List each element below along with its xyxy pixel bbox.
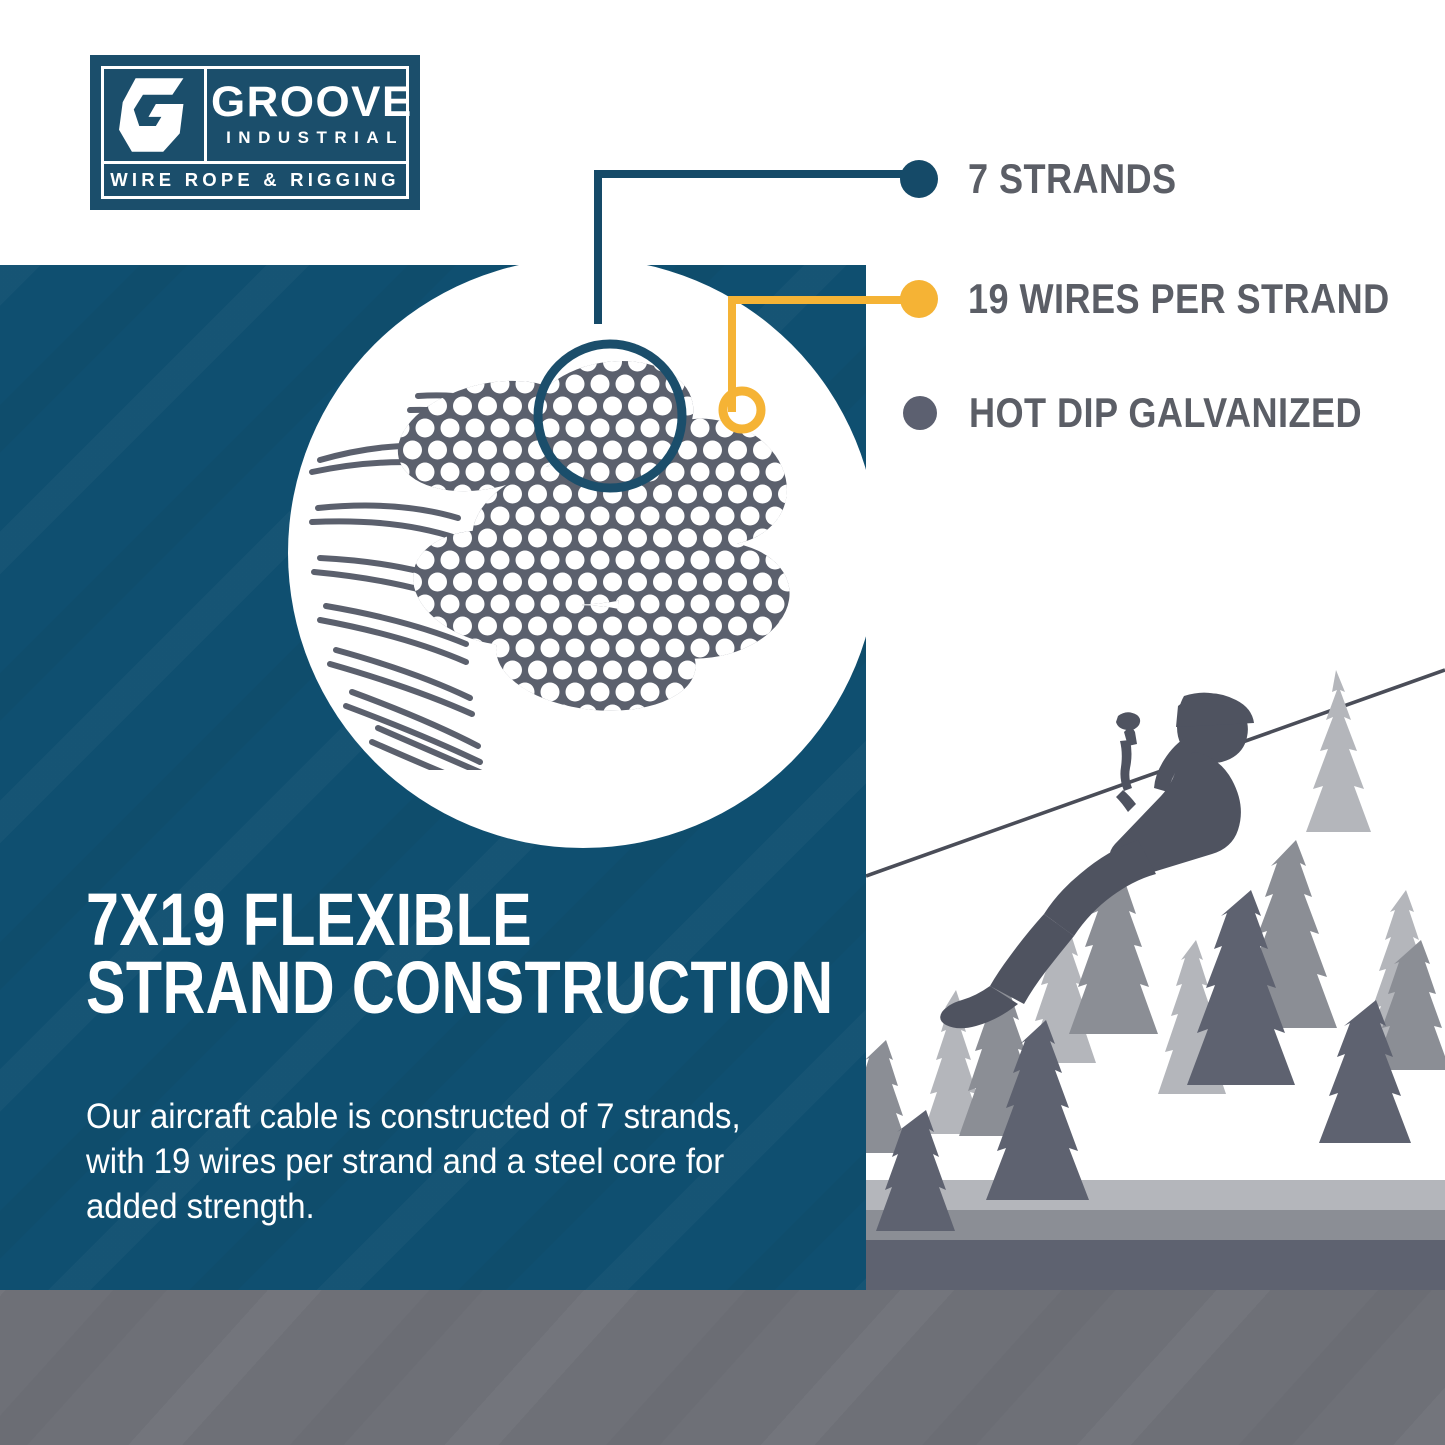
callout-strands-label: 7 STRANDS: [968, 155, 1177, 203]
leader-line-wires: [732, 300, 910, 408]
logo-subname: INDUSTRIAL: [219, 128, 404, 148]
brand-logo: GROOVE INDUSTRIAL WIRE ROPE & RIGGING: [90, 55, 420, 210]
amber-filled-dot: [900, 280, 938, 318]
callout-wires: 19 WIRES PER STRAND: [900, 275, 1445, 323]
logo-wordmark: GROOVE INDUSTRIAL: [207, 82, 417, 148]
callout-strands: 7 STRANDS: [900, 155, 1211, 203]
infographic-canvas: GROOVE INDUSTRIAL WIRE ROPE & RIGGING: [0, 0, 1445, 1445]
logo-tagline-row: WIRE ROPE & RIGGING: [104, 164, 406, 196]
logo-frame: GROOVE INDUSTRIAL WIRE ROPE & RIGGING: [101, 66, 409, 199]
logo-name: GROOVE: [211, 82, 413, 123]
navy-filled-dot: [900, 160, 938, 198]
footer-band: [0, 1290, 1445, 1445]
callout-galvanized-label: HOT DIP GALVANIZED: [969, 389, 1362, 437]
callout-wires-label: 19 WIRES PER STRAND: [968, 275, 1390, 323]
g-hex-icon: [104, 69, 207, 161]
gray-filled-dot: [903, 396, 937, 430]
headline-line-1: 7X19 FLEXIBLE: [86, 886, 694, 954]
logo-tagline: WIRE ROPE & RIGGING: [110, 169, 399, 191]
logo-top-row: GROOVE INDUSTRIAL: [104, 69, 406, 164]
zipline-forest-scene: [866, 640, 1445, 1290]
body-copy: Our aircraft cable is constructed of 7 s…: [86, 1095, 744, 1229]
page-title: 7X19 FLEXIBLE STRAND CONSTRUCTION: [86, 886, 846, 1022]
headline-line-2: STRAND CONSTRUCTION: [86, 954, 694, 1022]
callout-galvanized: HOT DIP GALVANIZED: [903, 389, 1426, 437]
